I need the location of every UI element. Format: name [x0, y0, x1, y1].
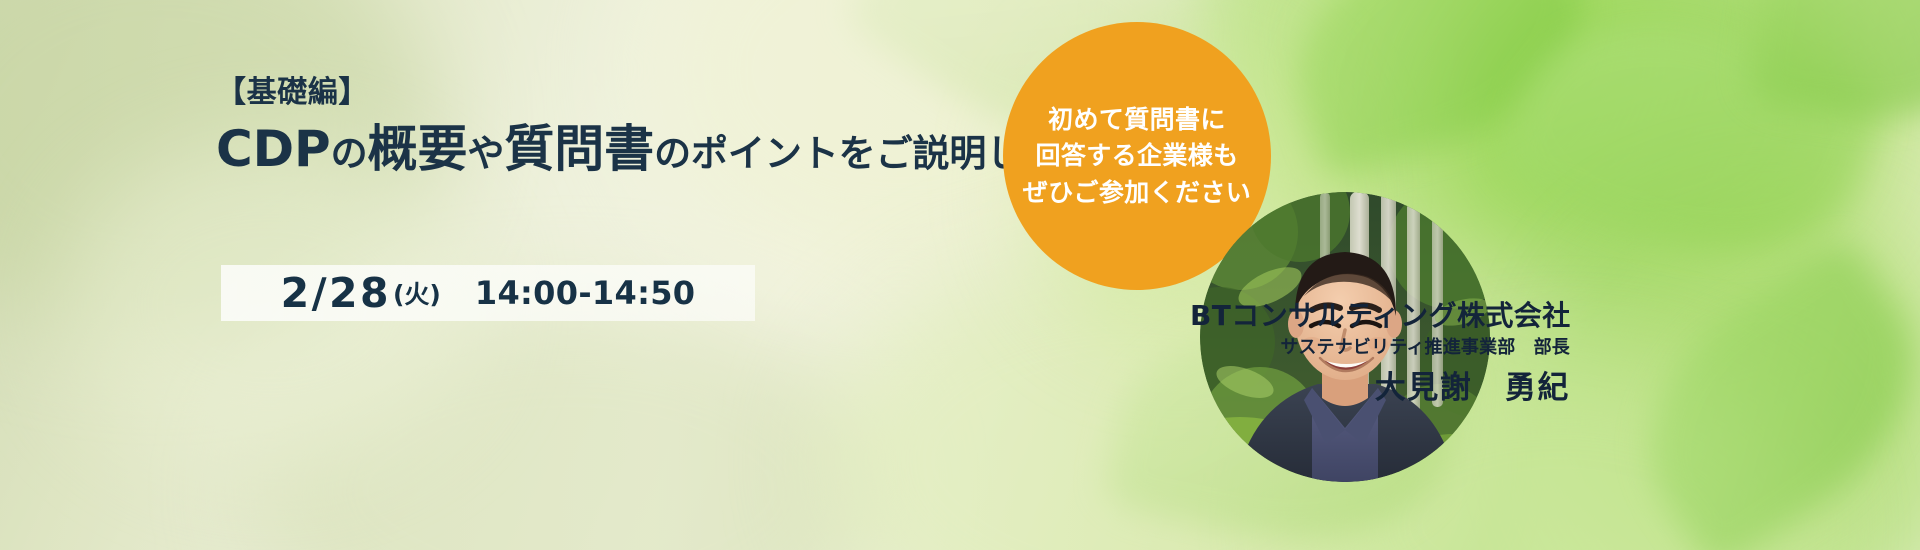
speaker-department: サステナビリティ推進事業部 部長 [1190, 338, 1570, 359]
badge-line-1: 初めて質問書に [1048, 106, 1226, 134]
title-segment-overview: 概要 [368, 120, 468, 178]
title-segment-cdp: CDP [216, 120, 331, 178]
schedule-text: 2/28 (火) 14:00-14:50 [221, 265, 755, 321]
event-time: 14:00-14:50 [475, 274, 696, 312]
speaker-company: BTコンサルティング株式会社 [1190, 300, 1570, 332]
event-date: 2/28 [281, 269, 391, 317]
page-title: CDPの概要や質問書のポイントをご説明します。 [216, 124, 1130, 174]
kicker-label: 【基礎編】 [216, 78, 369, 108]
speaker-name: 大見謝 勇紀 [1190, 371, 1570, 407]
badge-line-2: 回答する企業様も [1035, 142, 1238, 170]
title-segment-ya: や [467, 132, 504, 175]
badge-line-3: ぜひご参加ください [1023, 179, 1251, 207]
speaker-info: BTコンサルティング株式会社 サステナビリティ推進事業部 部長 大見謝 勇紀 [1190, 300, 1570, 407]
event-dayofweek: (火) [393, 275, 441, 311]
title-segment-no: の [331, 132, 368, 175]
webinar-banner: 【基礎編】 CDPの概要や質問書のポイントをご説明します。 2/28 (火) 1… [0, 0, 1920, 550]
title-segment-questionnaire: 質問書 [504, 120, 654, 178]
